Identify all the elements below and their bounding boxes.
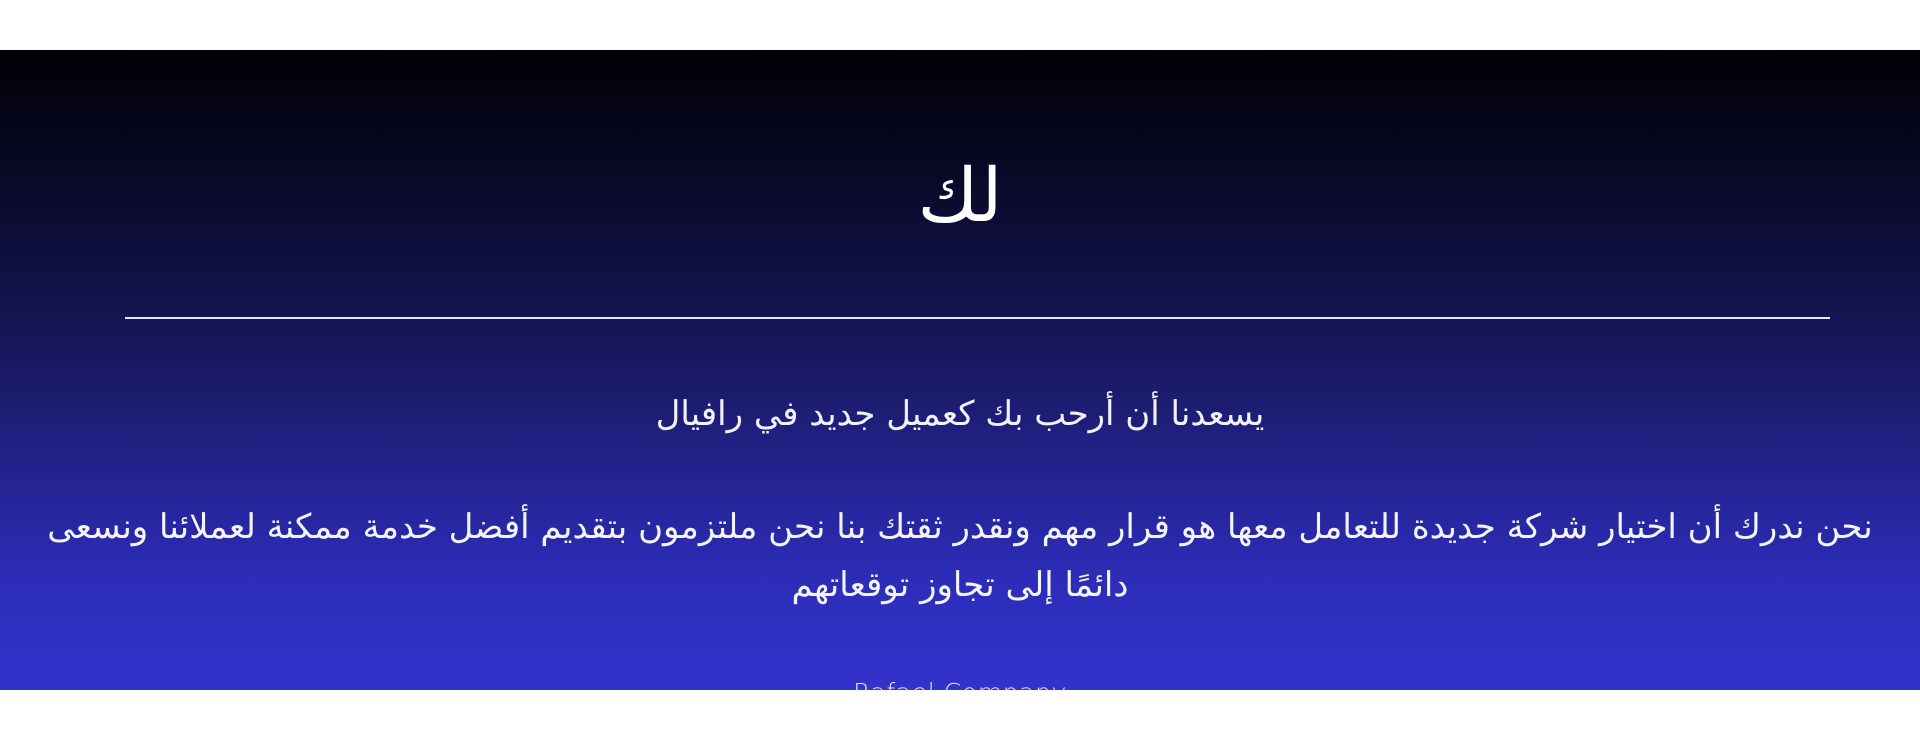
horizontal-divider: [125, 317, 1830, 319]
company-signature: Rafael Company: [0, 677, 1920, 690]
top-margin-band: [0, 0, 1920, 50]
bottom-margin-band: [0, 690, 1920, 742]
page-title: لك: [0, 154, 1920, 239]
banner-content: لك يسعدنا أن أرحب بك كعميل جديد في رافيا…: [0, 50, 1920, 690]
welcome-banner: لك يسعدنا أن أرحب بك كعميل جديد في رافيا…: [0, 50, 1920, 690]
page-root: لك يسعدنا أن أرحب بك كعميل جديد في رافيا…: [0, 0, 1920, 742]
body-paragraph: نحن ندرك أن اختيار شركة جديدة للتعامل مع…: [30, 498, 1890, 614]
greeting-text: يسعدنا أن أرحب بك كعميل جديد في رافيال: [0, 390, 1920, 439]
